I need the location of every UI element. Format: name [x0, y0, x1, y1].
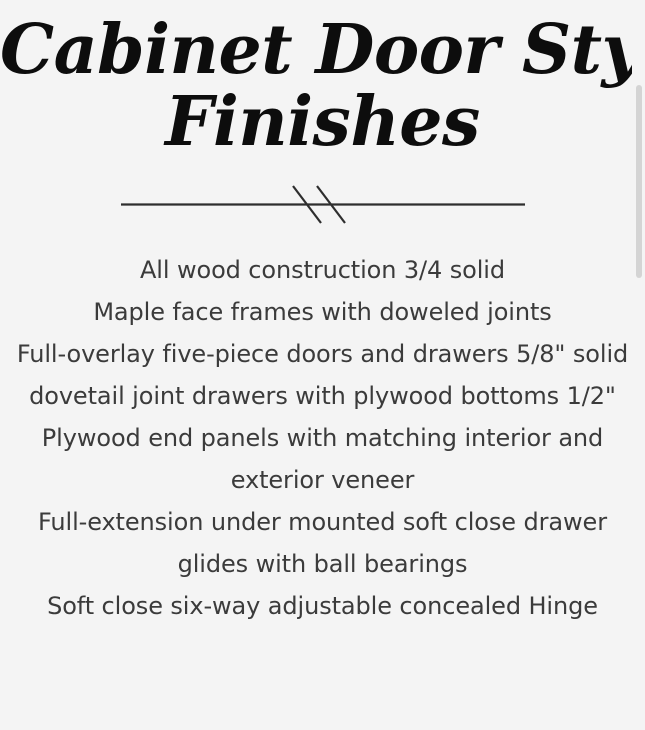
scrollbar-thumb[interactable]: [636, 85, 642, 278]
page-container: Cabinet Door Styles &Finishes All wood c…: [0, 0, 645, 730]
list-item: Maple face frames with doweled joints: [10, 291, 635, 333]
list-item: All wood construction 3/4 solid: [10, 249, 635, 291]
double-slash-divider-ornament: [110, 180, 535, 228]
list-item: dovetail joint drawers with plywood bott…: [10, 375, 635, 417]
vertical-scrollbar[interactable]: [632, 0, 645, 730]
list-item: Full-overlay five-piece doors and drawer…: [10, 333, 635, 375]
page-title: Cabinet Door Styles &Finishes: [0, 14, 645, 158]
list-item: Plywood end panels with matching interio…: [10, 417, 635, 501]
page-title-heading: Cabinet Door Styles &Finishes: [0, 14, 645, 158]
page-title-line-1: Cabinet Door Styles &: [0, 10, 645, 90]
page-title-line-2: Finishes: [0, 86, 645, 158]
list-item: Soft close six-way adjustable concealed …: [10, 585, 635, 627]
specification-list: All wood construction 3/4 solid Maple fa…: [10, 249, 635, 627]
list-item: Full-extension under mounted soft close …: [10, 501, 635, 585]
